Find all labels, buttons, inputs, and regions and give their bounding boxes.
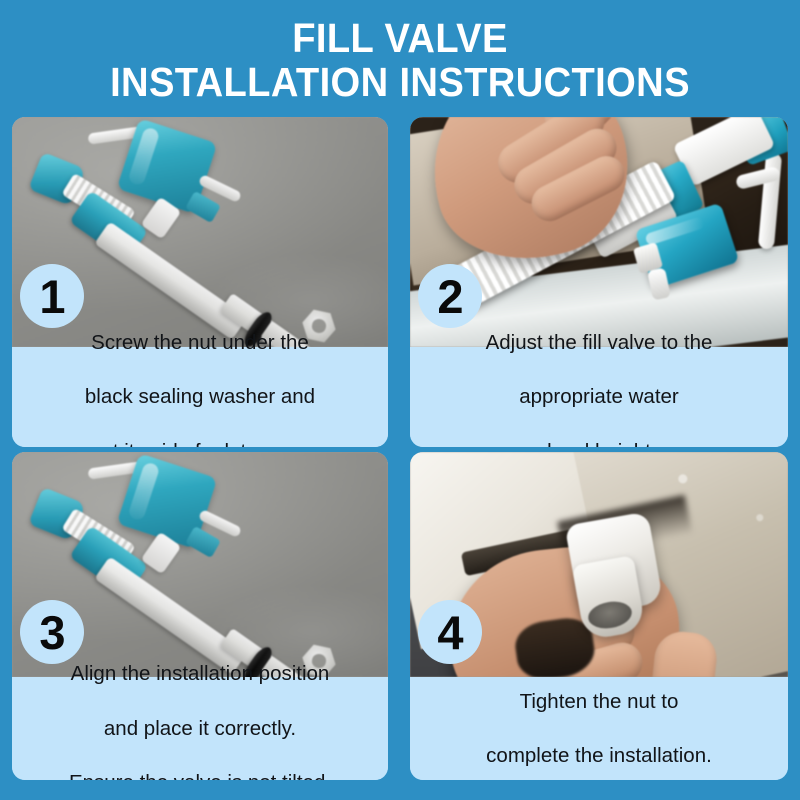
caption-3-line-3: Ensure the valve is not tilted. <box>22 769 378 780</box>
valve-teal-body <box>117 118 218 214</box>
valve-stem <box>88 459 157 479</box>
valve-refill-arm <box>198 174 242 203</box>
caption-4-line-2: complete the installation. <box>420 742 778 769</box>
step-badge-4: 4 <box>418 600 482 664</box>
valve-teal-body <box>117 453 218 549</box>
caption-1-line-1: Screw the nut under the <box>22 329 378 356</box>
step-badge-2: 2 <box>418 264 482 328</box>
title-line-1: FILL VALVE <box>28 16 772 60</box>
valve-teal-outlet <box>185 191 221 223</box>
title-line-2: INSTALLATION INSTRUCTIONS <box>28 60 772 104</box>
caption-2-line-2: appropriate water <box>420 383 778 410</box>
valve-white-shaft <box>94 556 247 674</box>
caption-2-line-3: level height <box>420 438 778 447</box>
caption-3-line-1: Align the installation position <box>22 660 378 687</box>
step-badge-1: 1 <box>20 264 84 328</box>
step-caption-2: Adjust the fill valve to the appropriate… <box>410 347 788 447</box>
caption-1-line-2: black sealing washer and <box>22 383 378 410</box>
step-caption-4: Tighten the nut to complete the installa… <box>410 677 788 780</box>
step-badge-3: 3 <box>20 600 84 664</box>
instruction-poster: FILL VALVE INSTALLATION INSTRUCTIONS <box>0 0 800 800</box>
valve-white-collar <box>141 532 182 575</box>
valve-teal-cap <box>28 487 86 541</box>
valve-teal-outlet <box>185 526 221 558</box>
valve-white-collar <box>141 197 182 240</box>
caption-3-line-2: and place it correctly. <box>22 715 378 742</box>
page-title: FILL VALVE INSTALLATION INSTRUCTIONS <box>28 16 772 105</box>
valve-ribbed-collar <box>61 173 135 232</box>
valve-teal-joint <box>69 525 148 596</box>
valve-refill-arm <box>198 509 242 538</box>
valve-teal-cap <box>28 152 86 206</box>
step-caption-1: Screw the nut under the black sealing wa… <box>12 347 388 447</box>
caption-2-line-1: Adjust the fill valve to the <box>420 329 778 356</box>
valve-stem <box>88 124 157 144</box>
valve-teal-joint <box>69 190 148 261</box>
step-caption-3: Align the installation position and plac… <box>12 677 388 780</box>
valve-ribbed-collar <box>61 508 135 567</box>
valve-white-shaft <box>94 221 247 339</box>
caption-4-line-1: Tighten the nut to <box>420 688 778 715</box>
caption-1-line-3: set it aside for later use. <box>22 438 378 447</box>
